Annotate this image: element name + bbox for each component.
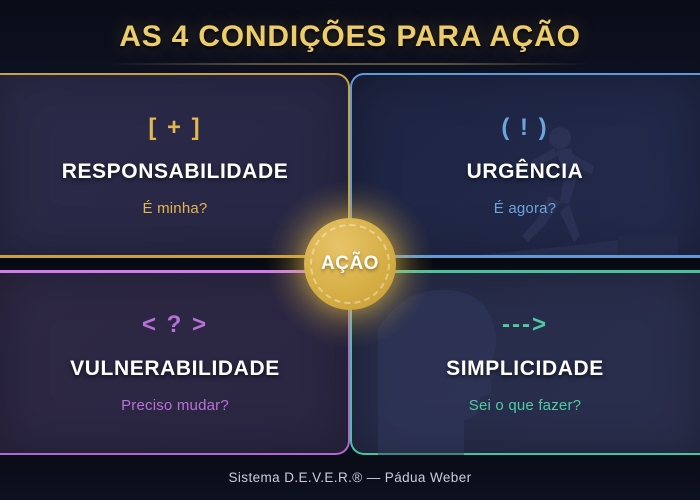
center-badge[interactable]: AÇÃO [260,174,440,354]
quadrant-title: URGÊNCIA [467,160,584,184]
title-underline [110,63,590,65]
quadrant-title: SIMPLICIDADE [446,357,604,381]
angle-question-icon: < ? > [142,311,208,339]
paren-exclamation-icon: ( ! ) [501,114,548,142]
quadrant-title: RESPONSABILIDADE [62,160,289,184]
page-title: AS 4 CONDIÇÕES PARA AÇÃO [119,20,580,54]
footer-bar: Sistema D.E.V.E.R.® — Pádua Weber [0,455,700,500]
center-label: AÇÃO [321,253,379,275]
quadrant-question: Preciso mudar? [121,397,229,414]
dashed-arrow-icon: ---> [502,311,548,339]
quadrant-question: É agora? [494,200,556,217]
quadrant-question: Sei o que fazer? [469,397,581,414]
quadrant-title: VULNERABILIDADE [70,357,280,381]
center-circle: AÇÃO [304,218,396,310]
quadrant-question: É minha? [143,200,208,217]
infographic-root: AS 4 CONDIÇÕES PARA AÇÃO [ + ] RESPONSAB… [0,0,700,500]
footer-credit: Sistema D.E.V.E.R.® — Pádua Weber [229,470,472,485]
bracket-plus-icon: [ + ] [148,114,201,142]
